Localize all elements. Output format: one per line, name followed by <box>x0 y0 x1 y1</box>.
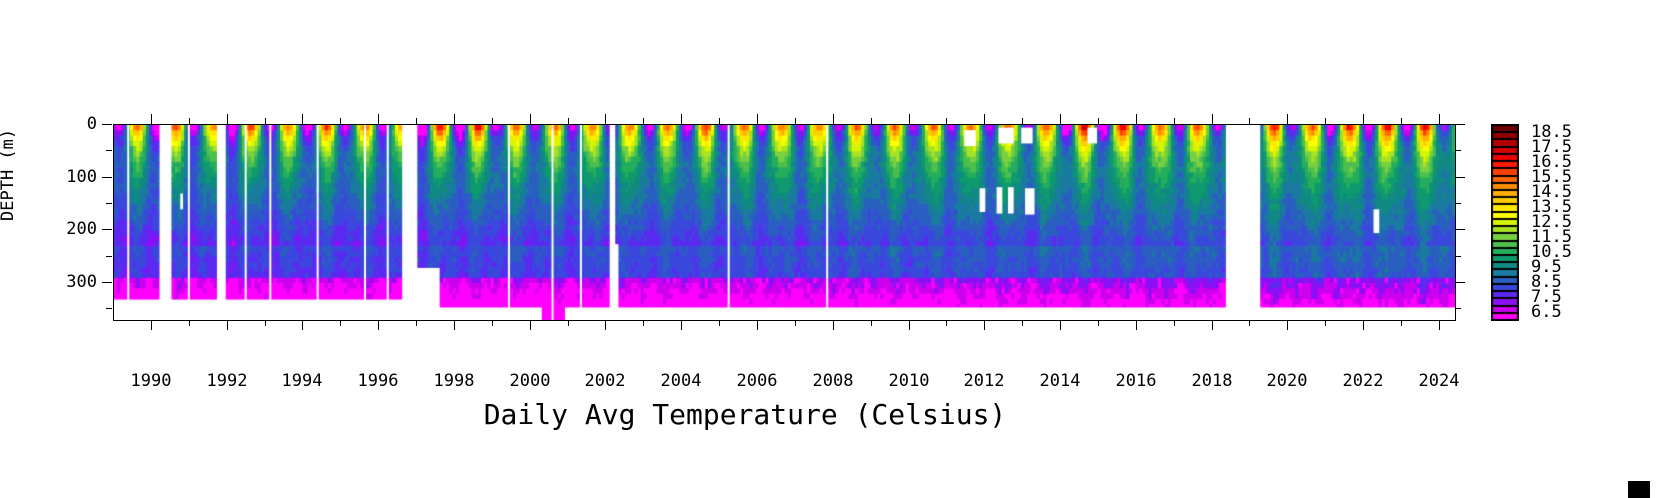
x-tick-minor <box>643 320 644 326</box>
y-tick-minor-right <box>1455 150 1461 151</box>
y-tick-minor <box>106 150 112 151</box>
x-tick-minor <box>416 320 417 326</box>
x-tick-minor <box>719 320 720 326</box>
y-tick-label: 200 <box>51 219 97 239</box>
x-tick-label: 1994 <box>282 371 323 391</box>
x-tick-major-top <box>605 114 606 124</box>
x-tick-major-top <box>1439 114 1440 124</box>
x-tick-minor <box>265 320 266 326</box>
x-tick-minor <box>1022 320 1023 326</box>
x-tick-label: 2020 <box>1267 371 1308 391</box>
x-tick-major <box>1212 320 1213 330</box>
x-tick-major <box>681 320 682 330</box>
colorbar-tick-label: 6.5 <box>1531 302 1562 322</box>
x-tick-minor <box>795 320 796 326</box>
y-axis-title: DEPTH (m) <box>0 129 18 221</box>
x-tick-major <box>378 320 379 330</box>
heatmap-canvas <box>114 125 1455 320</box>
x-tick-label: 2018 <box>1192 371 1233 391</box>
x-tick-minor-top <box>416 118 417 124</box>
x-tick-major-top <box>1212 114 1213 124</box>
x-tick-major <box>909 320 910 330</box>
x-tick-minor <box>340 320 341 326</box>
x-tick-minor-top <box>568 118 569 124</box>
x-tick-label: 2004 <box>661 371 702 391</box>
x-tick-minor-top <box>795 118 796 124</box>
x-tick-label: 2008 <box>813 371 854 391</box>
x-tick-major <box>605 320 606 330</box>
y-tick-minor-right <box>1455 256 1461 257</box>
x-tick-minor-top <box>1401 118 1402 124</box>
y-tick-major <box>102 229 112 230</box>
chart-page: 1990199219941996199820002002200420062008… <box>0 0 1659 498</box>
x-tick-minor <box>189 320 190 326</box>
x-tick-major-top <box>1287 114 1288 124</box>
y-tick-minor <box>106 308 112 309</box>
y-tick-label: 0 <box>51 114 97 134</box>
corner-marker <box>1628 481 1650 498</box>
x-tick-major <box>530 320 531 330</box>
x-tick-label: 2006 <box>737 371 778 391</box>
x-tick-label: 2016 <box>1116 371 1157 391</box>
y-tick-major-right <box>1455 124 1465 125</box>
x-tick-major-top <box>1060 114 1061 124</box>
x-tick-label: 2010 <box>889 371 930 391</box>
x-tick-major <box>833 320 834 330</box>
x-tick-major-top <box>984 114 985 124</box>
x-tick-minor-top <box>265 118 266 124</box>
y-tick-minor <box>106 256 112 257</box>
x-tick-label: 1992 <box>207 371 248 391</box>
y-tick-major <box>102 124 112 125</box>
x-tick-minor-top <box>1022 118 1023 124</box>
x-tick-major <box>1136 320 1137 330</box>
x-tick-major <box>1439 320 1440 330</box>
x-tick-minor-top <box>871 118 872 124</box>
x-tick-minor <box>568 320 569 326</box>
x-tick-major-top <box>151 114 152 124</box>
x-tick-label: 2002 <box>585 371 626 391</box>
x-tick-minor-top <box>643 118 644 124</box>
x-tick-label: 1998 <box>434 371 475 391</box>
x-tick-minor <box>1098 320 1099 326</box>
x-tick-minor <box>492 320 493 326</box>
x-tick-minor <box>1174 320 1175 326</box>
y-tick-label: 300 <box>51 272 97 292</box>
x-tick-minor-top <box>1098 118 1099 124</box>
x-tick-major-top <box>681 114 682 124</box>
x-tick-major <box>757 320 758 330</box>
x-tick-minor-top <box>1325 118 1326 124</box>
y-tick-major <box>102 282 112 283</box>
x-tick-major-top <box>1136 114 1137 124</box>
x-tick-major <box>454 320 455 330</box>
x-tick-major-top <box>378 114 379 124</box>
x-tick-label: 1990 <box>131 371 172 391</box>
x-tick-major <box>302 320 303 330</box>
colorbar <box>1491 124 1517 319</box>
y-tick-minor <box>106 203 112 204</box>
x-tick-major <box>984 320 985 330</box>
x-tick-minor-top <box>946 118 947 124</box>
x-tick-label: 2024 <box>1419 371 1460 391</box>
x-tick-minor-top <box>189 118 190 124</box>
x-tick-minor-top <box>340 118 341 124</box>
x-tick-minor <box>1249 320 1250 326</box>
x-tick-minor-top <box>1174 118 1175 124</box>
x-tick-major <box>151 320 152 330</box>
x-tick-major-top <box>454 114 455 124</box>
x-tick-label: 1996 <box>358 371 399 391</box>
x-tick-major <box>227 320 228 330</box>
y-tick-minor-right <box>1455 203 1461 204</box>
y-tick-major-right <box>1455 229 1465 230</box>
y-tick-major <box>102 177 112 178</box>
x-tick-major-top <box>757 114 758 124</box>
x-tick-major-top <box>530 114 531 124</box>
x-tick-minor-top <box>1249 118 1250 124</box>
x-tick-minor <box>946 320 947 326</box>
x-tick-major-top <box>909 114 910 124</box>
x-tick-major-top <box>302 114 303 124</box>
x-tick-major <box>1060 320 1061 330</box>
x-tick-label: 2000 <box>510 371 551 391</box>
x-tick-minor <box>871 320 872 326</box>
x-tick-minor-top <box>492 118 493 124</box>
x-tick-major <box>1363 320 1364 330</box>
x-tick-label: 2014 <box>1040 371 1081 391</box>
x-tick-label: 2012 <box>964 371 1005 391</box>
x-tick-major-top <box>1363 114 1364 124</box>
y-tick-major-right <box>1455 282 1465 283</box>
x-tick-major-top <box>227 114 228 124</box>
x-tick-major <box>1287 320 1288 330</box>
y-tick-major-right <box>1455 177 1465 178</box>
x-tick-minor <box>1325 320 1326 326</box>
x-tick-minor <box>1401 320 1402 326</box>
chart-title: Daily Avg Temperature (Celsius) <box>0 398 1490 431</box>
x-tick-major-top <box>833 114 834 124</box>
x-tick-label: 2022 <box>1343 371 1384 391</box>
heatmap-plot-area <box>113 124 1456 321</box>
colorbar-canvas <box>1491 124 1519 321</box>
x-tick-minor-top <box>719 118 720 124</box>
y-tick-label: 100 <box>51 167 97 187</box>
y-tick-minor-right <box>1455 308 1461 309</box>
